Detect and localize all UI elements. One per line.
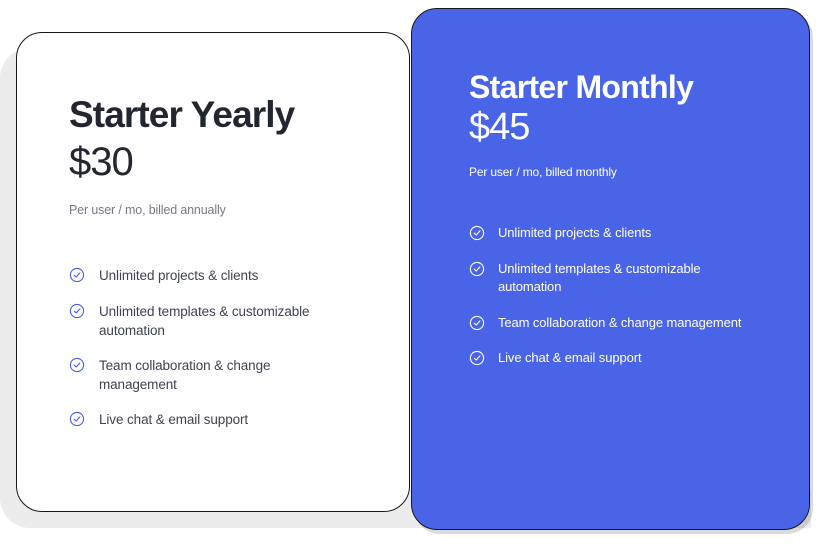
list-item: Unlimited projects & clients [469,224,779,242]
list-item: Team collaboration & change management [469,314,779,332]
list-item: Team collaboration & change management [69,356,375,394]
billing-note: Per user / mo, billed monthly [469,165,779,181]
feature-label: Live chat & email support [99,410,248,429]
list-item: Live chat & email support [469,349,779,367]
pricing-card-starter-yearly[interactable]: Starter Yearly $30 Per user / mo, billed… [16,32,410,512]
card-content: Starter Monthly $45 Per user / mo, bille… [412,9,809,529]
feature-label: Unlimited templates & customizable autom… [99,302,349,340]
check-circle-icon [69,411,85,427]
check-circle-icon [69,303,85,319]
check-circle-icon [469,350,485,366]
feature-label: Team collaboration & change management [498,314,741,332]
list-item: Unlimited templates & customizable autom… [69,302,375,340]
check-circle-icon [69,267,85,283]
feature-list: Unlimited projects & clients Unlimited t… [69,266,375,429]
check-circle-icon [469,315,485,331]
pricing-card-starter-monthly[interactable]: Starter Monthly $45 Per user / mo, bille… [411,8,810,530]
plan-price: $30 [69,140,375,184]
check-circle-icon [469,225,485,241]
list-item: Live chat & email support [69,410,375,429]
plan-title: Starter Yearly [69,95,375,134]
card-content: Starter Yearly $30 Per user / mo, billed… [17,33,409,511]
feature-label: Unlimited projects & clients [99,266,258,285]
plan-price: $45 [469,107,779,149]
billing-note: Per user / mo, billed annually [69,202,375,218]
pricing-cards-screen: Starter Yearly $30 Per user / mo, billed… [0,0,821,545]
feature-label: Unlimited projects & clients [498,224,651,242]
feature-label: Live chat & email support [498,349,641,367]
plan-title: Starter Monthly [469,71,779,105]
feature-list: Unlimited projects & clients Unlimited t… [469,224,779,367]
list-item: Unlimited templates & customizable autom… [469,260,779,297]
check-circle-icon [469,261,485,277]
list-item: Unlimited projects & clients [69,266,375,285]
feature-label: Team collaboration & change management [99,356,349,394]
feature-label: Unlimited templates & customizable autom… [498,260,748,297]
check-circle-icon [69,357,85,373]
